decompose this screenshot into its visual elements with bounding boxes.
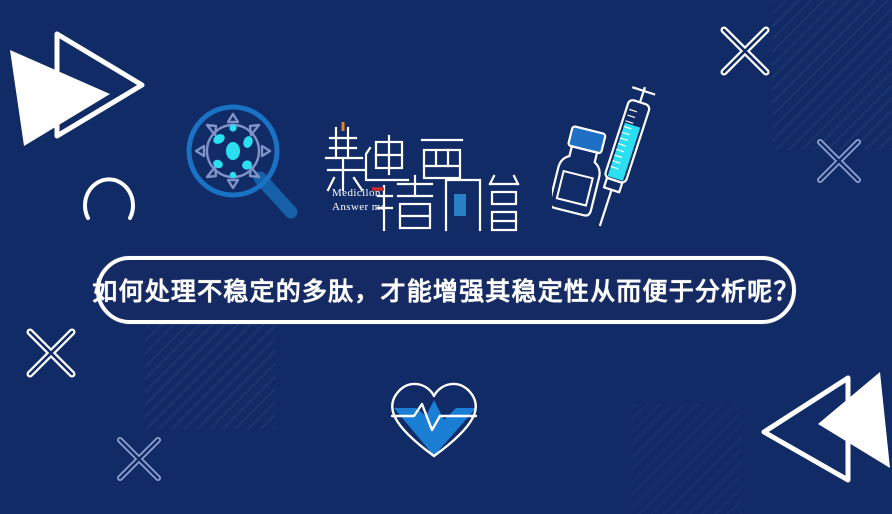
question-text: 如何处理不稳定的多肽，才能增强其稳定性从而便于分析呢？: [92, 272, 799, 308]
logo-english-text: Medicilon Answer me: [332, 186, 386, 214]
x-mark-bottom-left: [20, 326, 78, 384]
x-mark-right: [812, 136, 864, 188]
logo-english-line2: Answer me: [332, 200, 386, 214]
double-triangle-left-icon: [756, 372, 892, 486]
magnifier-virus-icon: [178, 96, 304, 222]
heartbeat-heart-icon: [382, 372, 486, 460]
double-triangle-right-icon: [2, 22, 154, 148]
syringe-vial-icon: [552, 76, 670, 236]
x-mark-top-right: [714, 24, 772, 82]
diagonal-stripes-bottom-left: [145, 319, 275, 429]
x-mark-bottom: [112, 434, 164, 486]
logo-chinese-mark: [322, 118, 522, 238]
diagonal-stripes-bottom-right: [632, 404, 742, 514]
question-pill: 如何处理不稳定的多肽，才能增强其稳定性从而便于分析呢？: [96, 256, 796, 324]
logo-blue-accent: [454, 194, 466, 216]
medicilon-logo: Medicilon Answer me: [322, 118, 522, 238]
arc-shape: [78, 172, 140, 234]
diagonal-stripes-top-right: [772, 0, 892, 150]
logo-english-line1: Medicilon: [332, 186, 386, 200]
question-banner: Medicilon Answer me: [0, 0, 892, 514]
